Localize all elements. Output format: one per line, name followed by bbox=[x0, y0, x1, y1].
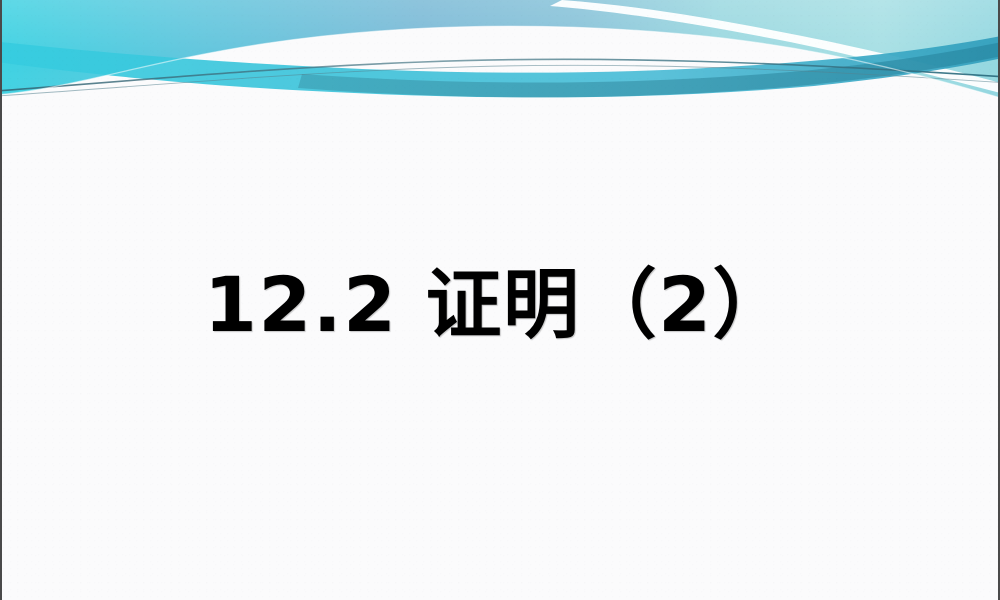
slide-title: 12.2 证明（2） bbox=[204, 263, 800, 347]
title-block: 12.2 证明（2） bbox=[2, 240, 1000, 370]
banner-wave-graphic bbox=[2, 0, 1000, 120]
decorative-wave-banner bbox=[2, 0, 1000, 120]
presentation-slide: 12.2 证明（2） bbox=[0, 0, 1000, 600]
